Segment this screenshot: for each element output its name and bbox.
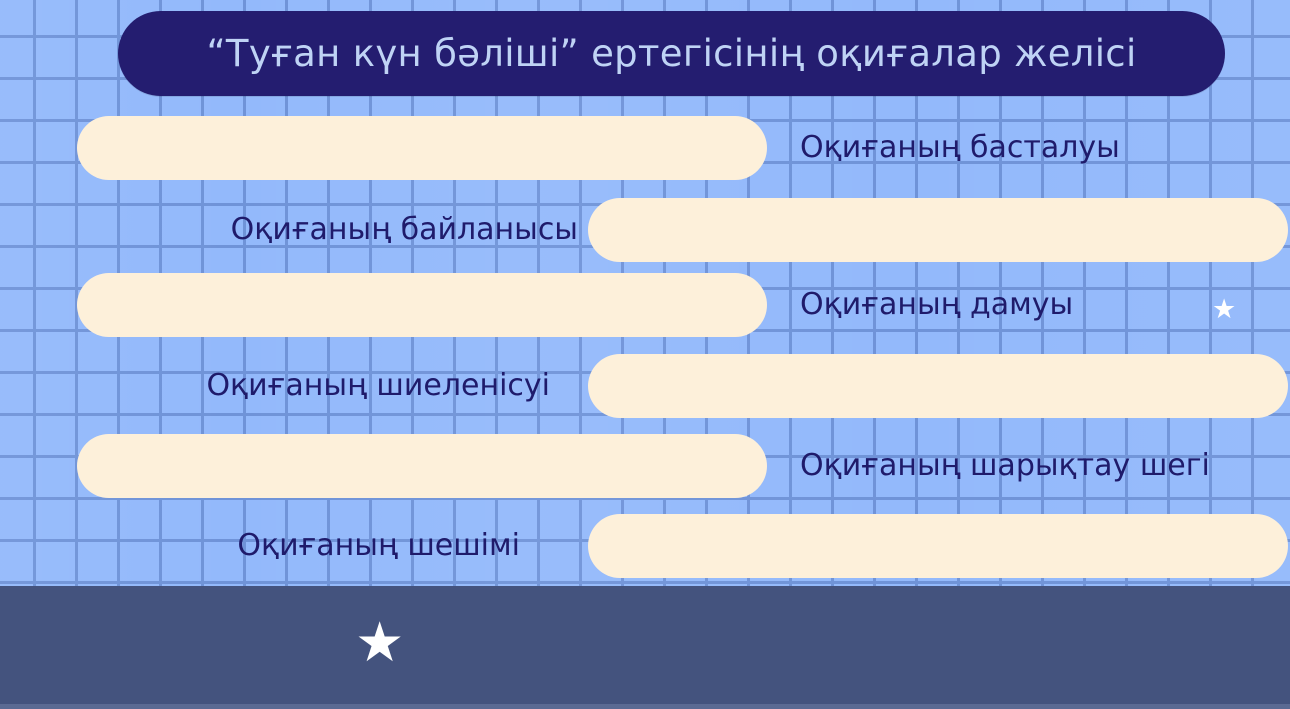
bottom-bar [0, 586, 1290, 704]
event-label-4: Оқиғаның шиеленісуі [206, 371, 550, 401]
answer-blank-3[interactable] [77, 273, 767, 337]
title-banner: “Туған күн бәліші” ертегісінің оқиғалар … [118, 11, 1225, 96]
page-title: “Туған күн бәліші” ертегісінің оқиғалар … [206, 35, 1136, 72]
answer-blank-5[interactable] [77, 434, 767, 498]
slide-canvas: “Туған күн бәліші” ертегісінің оқиғалар … [0, 0, 1290, 709]
star-icon-large: ★ [355, 615, 404, 670]
event-label-2: Оқиғаның байланысы [231, 215, 578, 245]
event-row-4: Оқиғаның шиеленісуі [0, 346, 1290, 426]
event-label-6: Оқиғаның шешімі [237, 531, 520, 561]
answer-blank-6[interactable] [588, 514, 1288, 578]
answer-blank-2[interactable] [588, 198, 1288, 262]
event-label-1: Оқиғаның басталуы [800, 133, 1120, 163]
event-label-3: Оқиғаның дамуы [800, 290, 1073, 320]
answer-blank-4[interactable] [588, 354, 1288, 418]
event-row-5: Оқиғаның шарықтау шегі [0, 426, 1290, 506]
star-icon-small: ★ [1212, 296, 1236, 323]
event-label-5: Оқиғаның шарықтау шегі [800, 451, 1210, 481]
event-row-6: Оқиғаның шешімі [0, 506, 1290, 586]
answer-blank-1[interactable] [77, 116, 767, 180]
event-row-2: Оқиғаның байланысы [0, 190, 1290, 270]
event-row-1: Оқиғаның басталуы [0, 108, 1290, 188]
event-row-3: Оқиғаның дамуы [0, 265, 1290, 345]
bottom-edge-strip [0, 704, 1290, 709]
